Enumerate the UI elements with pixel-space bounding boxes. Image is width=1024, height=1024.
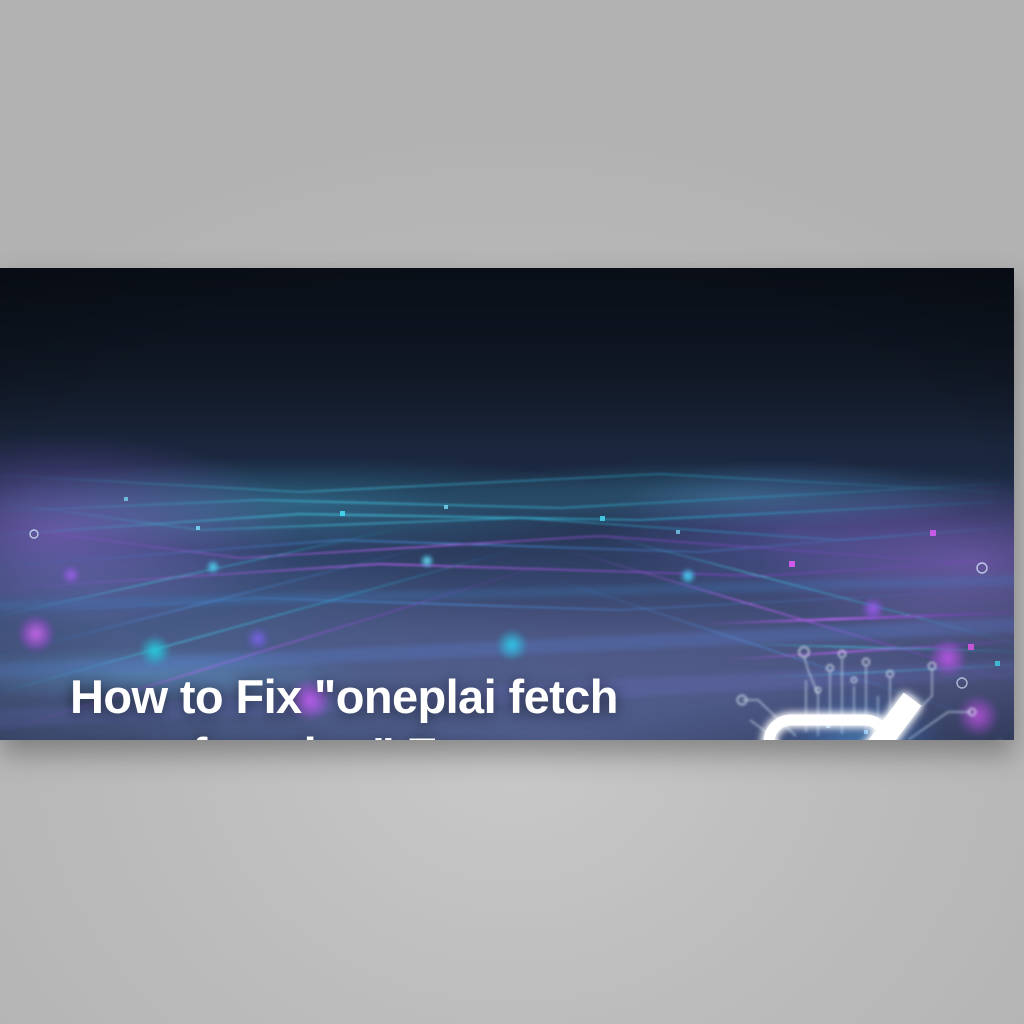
banner-image: conisale.logt'Sucesal! retun dats: How t… (0, 268, 1014, 740)
banner-text-block: How to Fix "oneplai fetch not a function… (70, 668, 730, 740)
checkmark-artwork: conisale.logt'Sucesal! retun dats: (700, 608, 1014, 740)
page-title: How to Fix "oneplai fetch not a function… (70, 668, 730, 740)
checkmark-in-rounded-square-icon (760, 698, 920, 740)
